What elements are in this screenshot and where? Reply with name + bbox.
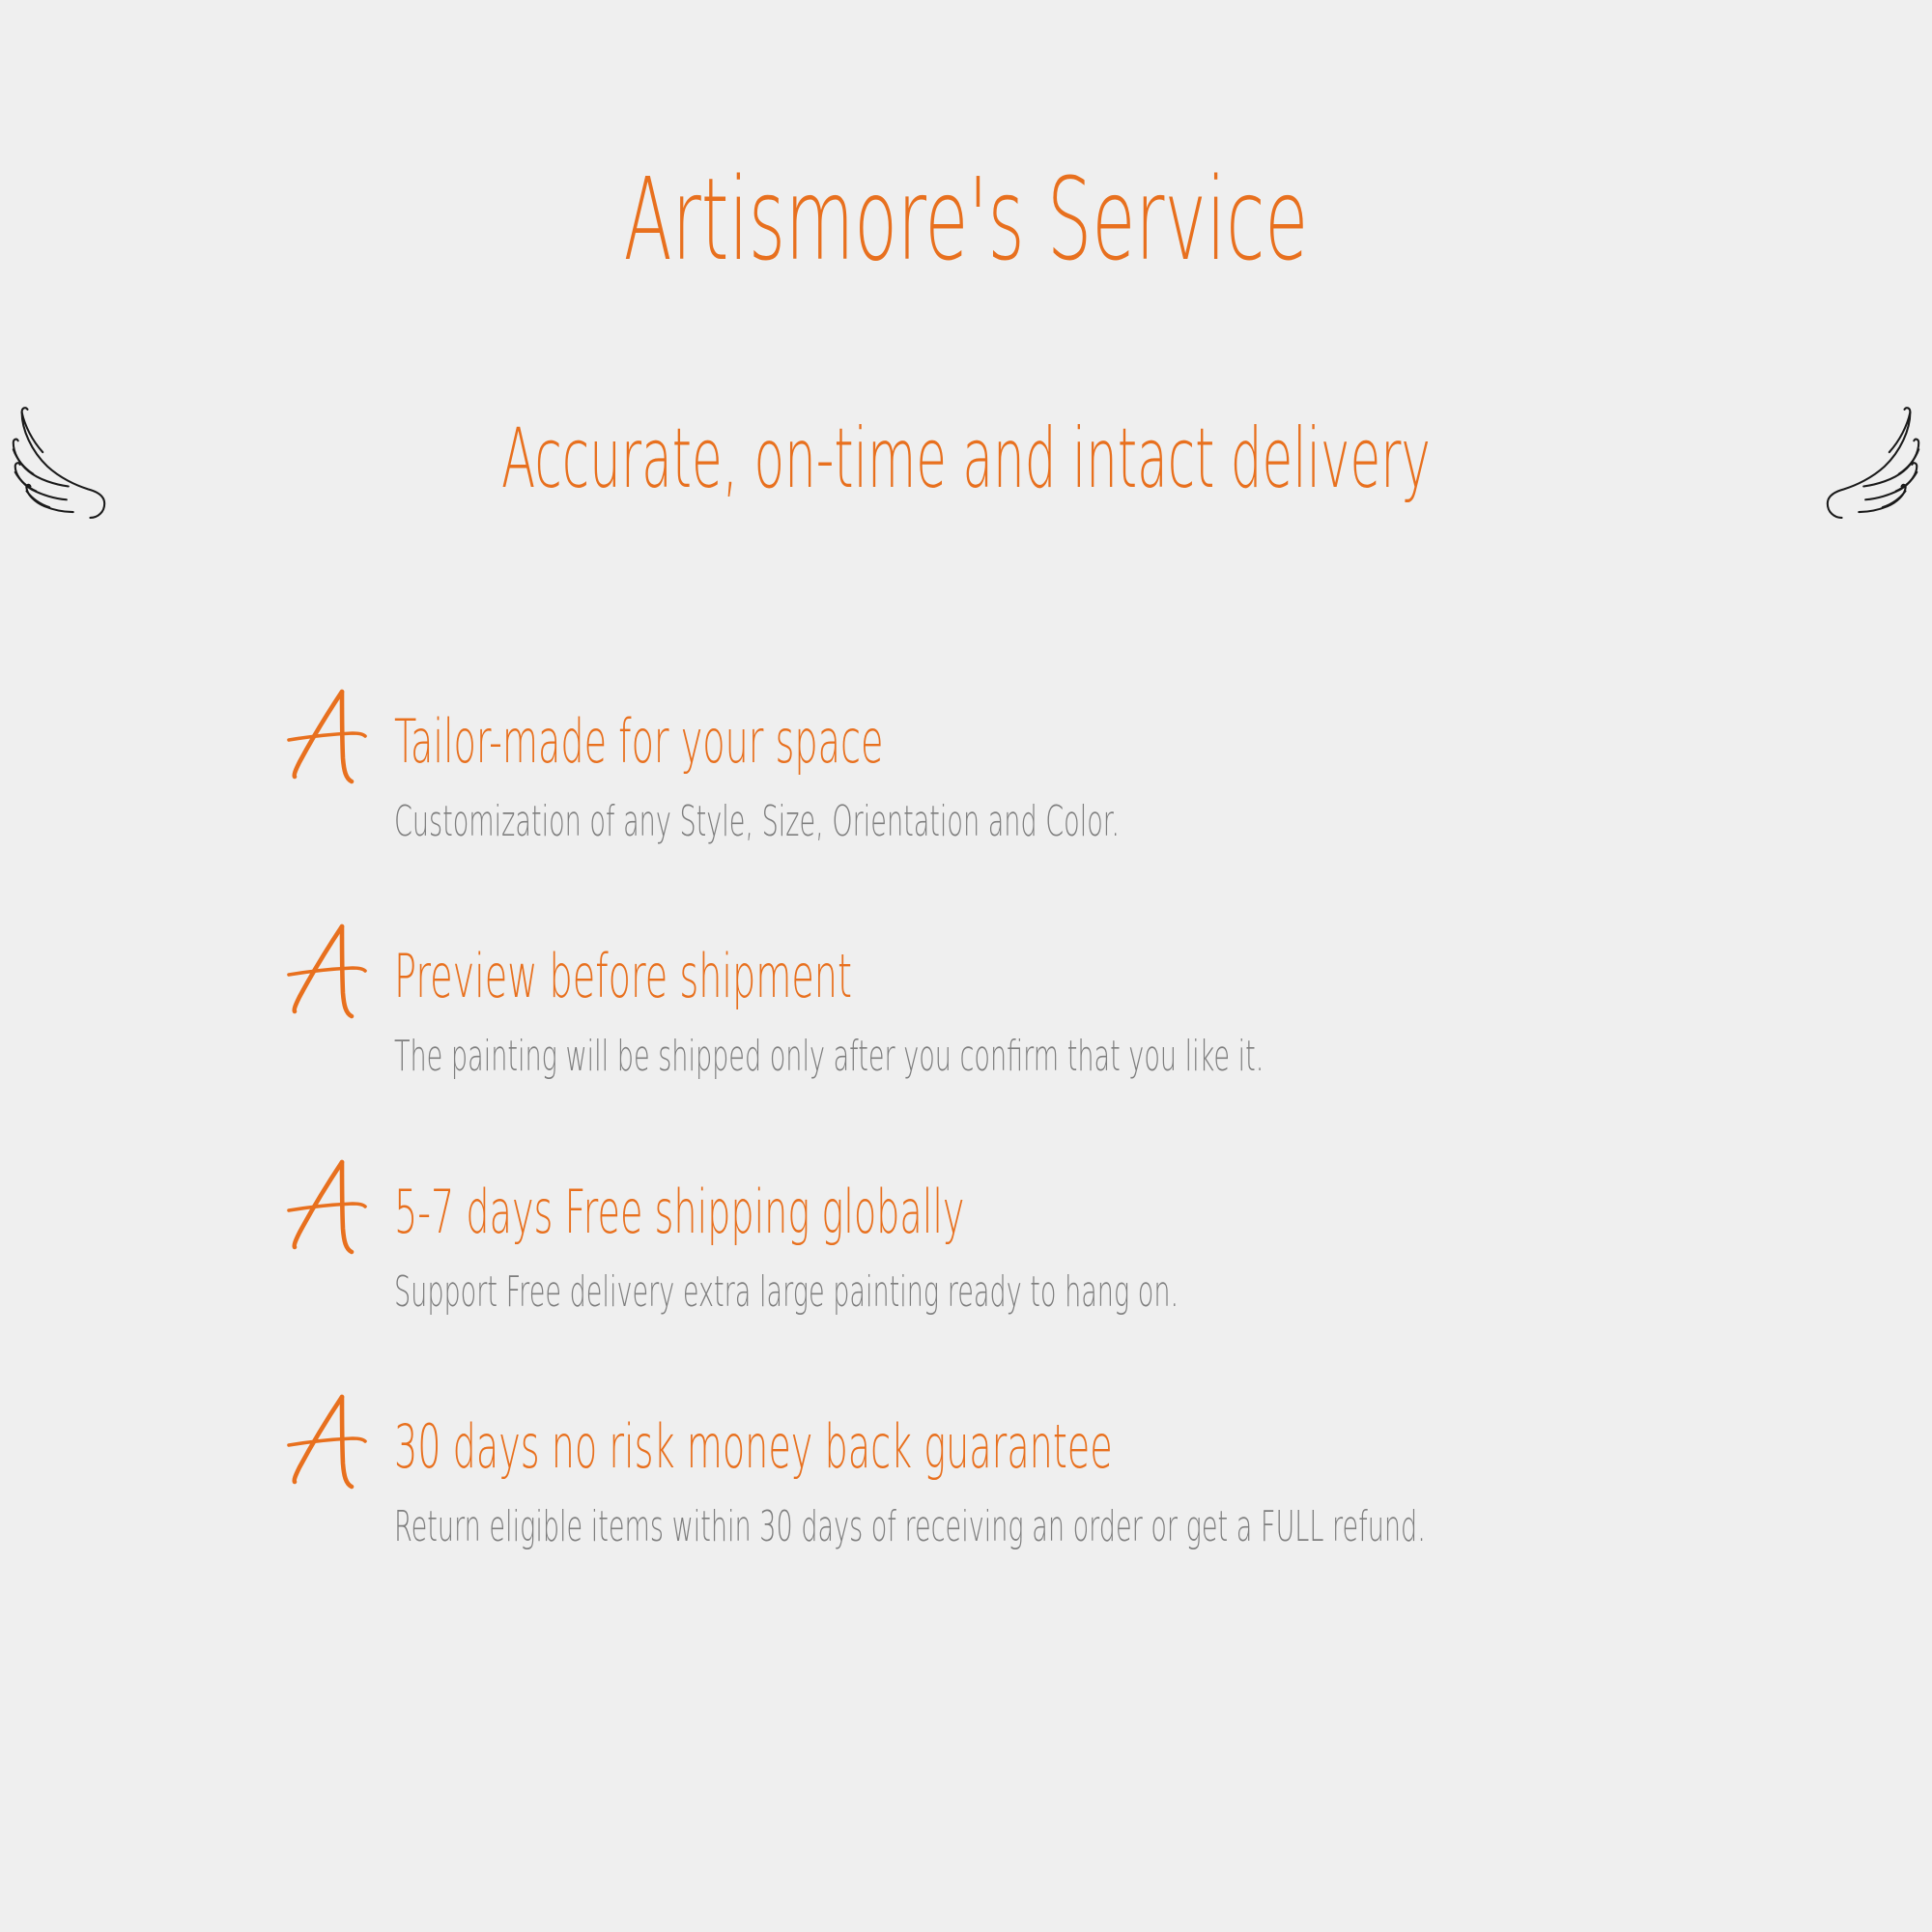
list-item: Preview before shipment The painting wil…: [286, 945, 1851, 1079]
subtitle-row: Accurate, on-time and intact delivery: [0, 386, 1932, 531]
script-a-icon: [286, 922, 369, 1022]
feature-heading: 5-7 days Free shipping globally: [394, 1180, 1820, 1243]
feature-list: Tailor-made for your space Customization…: [286, 710, 1851, 1549]
script-a-icon: [286, 687, 369, 787]
feature-body: 30 days no risk money back guarantee Ret…: [394, 1415, 1851, 1549]
list-item: 30 days no risk money back guarantee Ret…: [286, 1415, 1851, 1549]
page-subtitle: Accurate, on-time and intact delivery: [461, 417, 1471, 500]
wing-icon: [0, 396, 114, 522]
feature-body: 5-7 days Free shipping globally Support …: [394, 1180, 1851, 1315]
list-item: 5-7 days Free shipping globally Support …: [286, 1180, 1851, 1315]
feature-heading: Tailor-made for your space: [394, 710, 1820, 773]
feature-description: The painting will be shipped only after …: [394, 1035, 1820, 1079]
feature-description: Support Free delivery extra large painti…: [394, 1270, 1820, 1315]
feature-heading: Preview before shipment: [394, 945, 1820, 1008]
wing-icon: [1818, 396, 1932, 522]
list-item: Tailor-made for your space Customization…: [286, 710, 1851, 844]
feature-description: Return eligible items within 30 days of …: [394, 1505, 1820, 1549]
page-title: Artismore's Service: [367, 162, 1565, 276]
script-a-icon: [286, 1157, 369, 1258]
feature-body: Preview before shipment The painting wil…: [394, 945, 1851, 1079]
feature-description: Customization of any Style, Size, Orient…: [394, 800, 1820, 844]
script-a-icon: [286, 1392, 369, 1492]
feature-body: Tailor-made for your space Customization…: [394, 710, 1851, 844]
feature-heading: 30 days no risk money back guarantee: [394, 1415, 1820, 1478]
service-info-page: Artismore's Service Accurate, on-time an…: [0, 0, 1932, 1932]
